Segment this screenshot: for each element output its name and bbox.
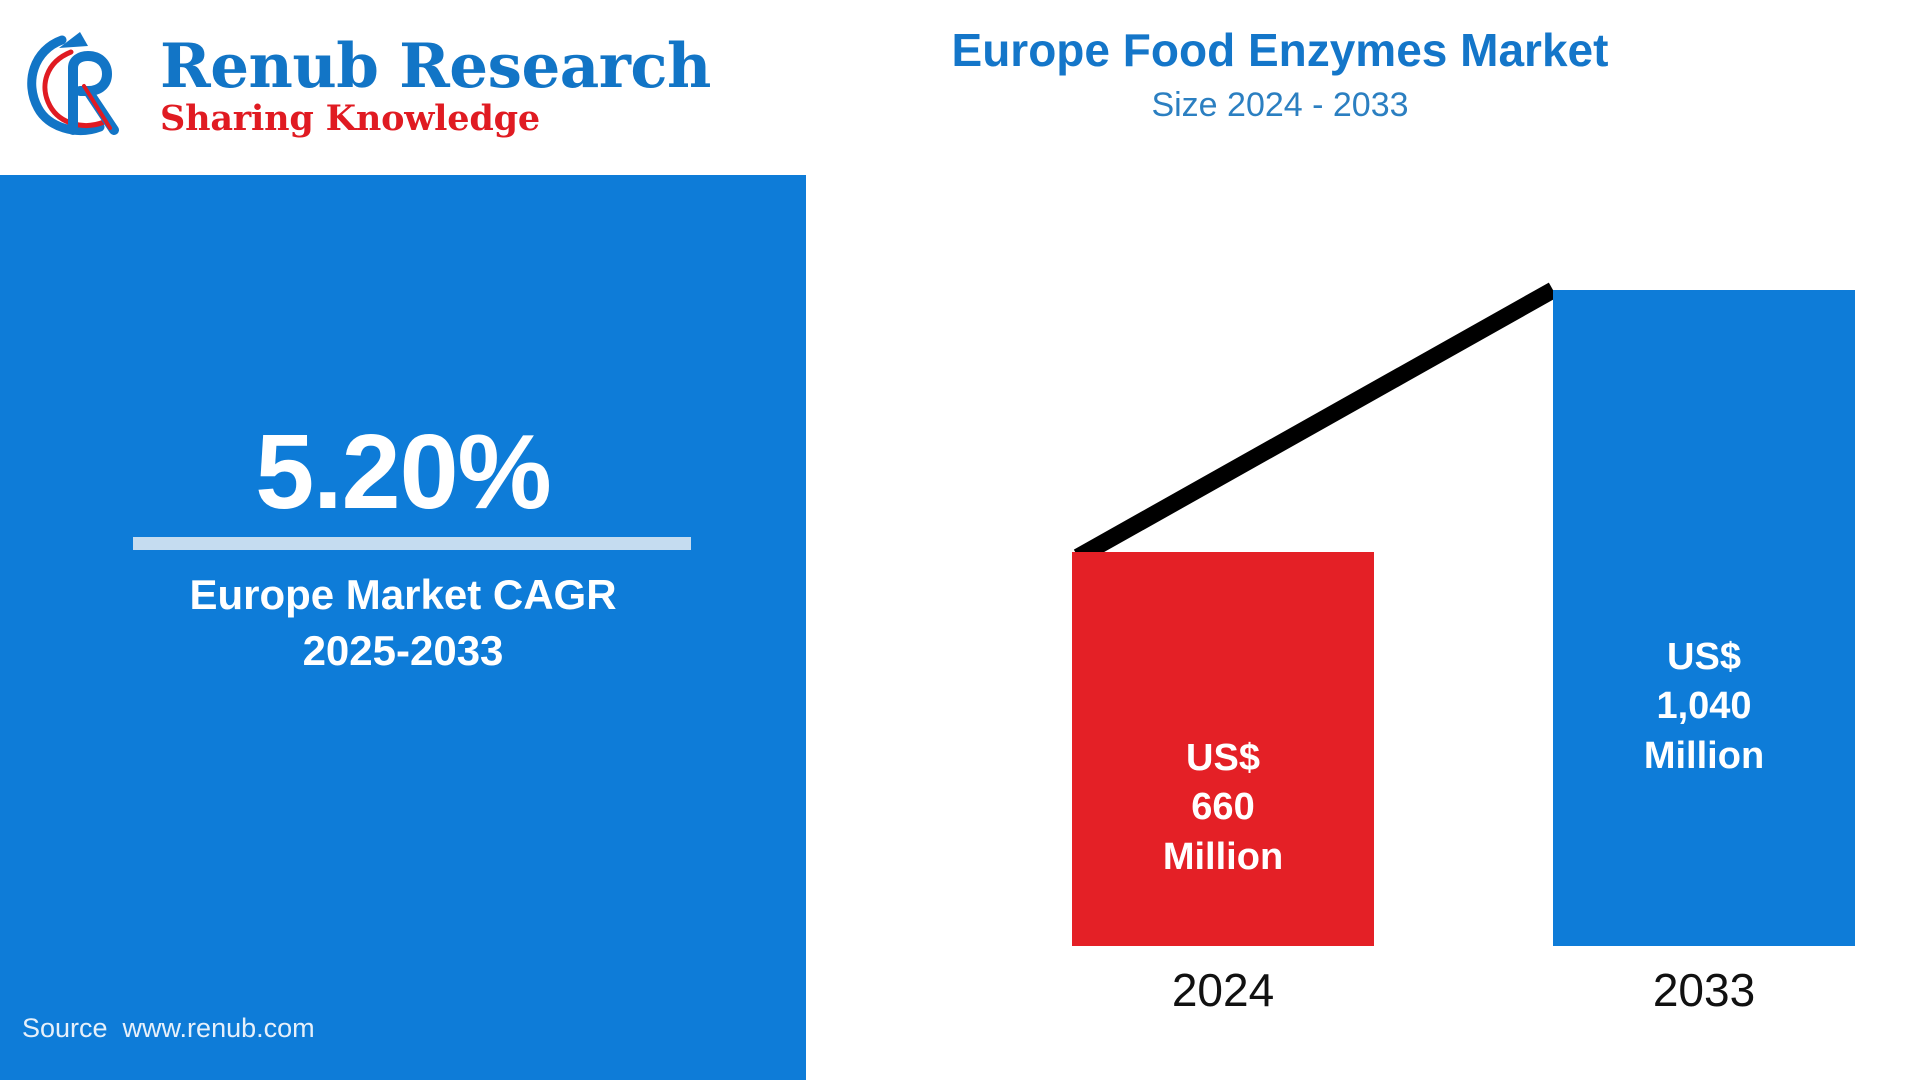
x-axis-tick-2033: 2033 [1553,963,1855,1017]
source-label: Source www.renub.com [22,1013,315,1044]
title-block: Europe Food Enzymes Market Size 2024 - 2… [660,24,1900,127]
cagr-panel-content: 5.20% Europe Market CAGR 2025-2033 Sourc… [0,175,806,1080]
brand-name: Renub Research [160,36,711,97]
cagr-panel: 5.20% Europe Market CAGR 2025-2033 Sourc… [0,175,806,1080]
brand-wordmark: Renub Research Sharing Knowledge [160,36,711,136]
brand-logo: Renub Research Sharing Knowledge [18,20,638,152]
cagr-divider [133,537,691,550]
cagr-value: 5.20% [0,419,806,525]
page-title: Europe Food Enzymes Market [660,24,1900,77]
bar-value-label-2033: US$ 1,040 Million [1644,455,1764,781]
bar-2024: US$ 660 Million [1072,552,1374,946]
x-axis-tick-2024: 2024 [1072,963,1374,1017]
bar-2033: US$ 1,040 Million [1553,290,1855,946]
cagr-label-primary: Europe Market CAGR [0,567,806,622]
bar-chart: US$ 660 Million US$ 1,040 Million 2024 2… [806,175,1920,1080]
renub-r-swoosh-logo-icon [18,26,146,146]
bar-value-label-2024: US$ 660 Million [1163,616,1283,882]
infographic-canvas: Renub Research Sharing Knowledge Europe … [0,0,1920,1080]
brand-tagline: Sharing Knowledge [160,101,711,136]
cagr-label-period: 2025-2033 [0,623,806,678]
page-subtitle: Size 2024 - 2033 [660,83,1900,127]
